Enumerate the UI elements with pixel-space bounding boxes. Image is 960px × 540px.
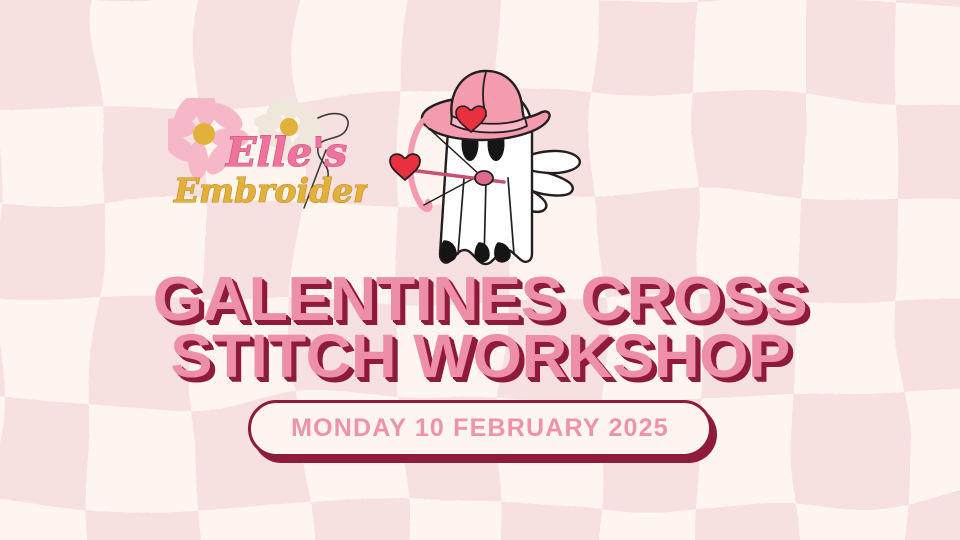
date-badge: MONDAY 10 FEBRUARY 2025: [248, 400, 712, 457]
logo-line-2: Embroidery: [173, 171, 368, 210]
logo-line-1: Elle's: [225, 129, 347, 176]
poster-title: GALENTINES CROSS STITCH WORKSHOP: [0, 272, 960, 384]
elles-embroidery-logo: Elle's Embroidery: [168, 98, 368, 220]
title-line-1: GALENTINES CROSS: [0, 272, 960, 328]
title-line-2: STITCH WORKSHOP: [0, 328, 960, 384]
date-pill-container: MONDAY 10 FEBRUARY 2025: [0, 400, 960, 457]
arrow-nock: [475, 171, 493, 185]
cowboy-hat-icon: [422, 71, 550, 140]
date-text: MONDAY 10 FEBRUARY 2025: [291, 414, 669, 442]
cowboy-ghost-cupid-mascot: [386, 58, 596, 286]
event-poster: Elle's Embroidery: [0, 0, 960, 540]
heart-icon-arrow-tip: [390, 154, 420, 180]
